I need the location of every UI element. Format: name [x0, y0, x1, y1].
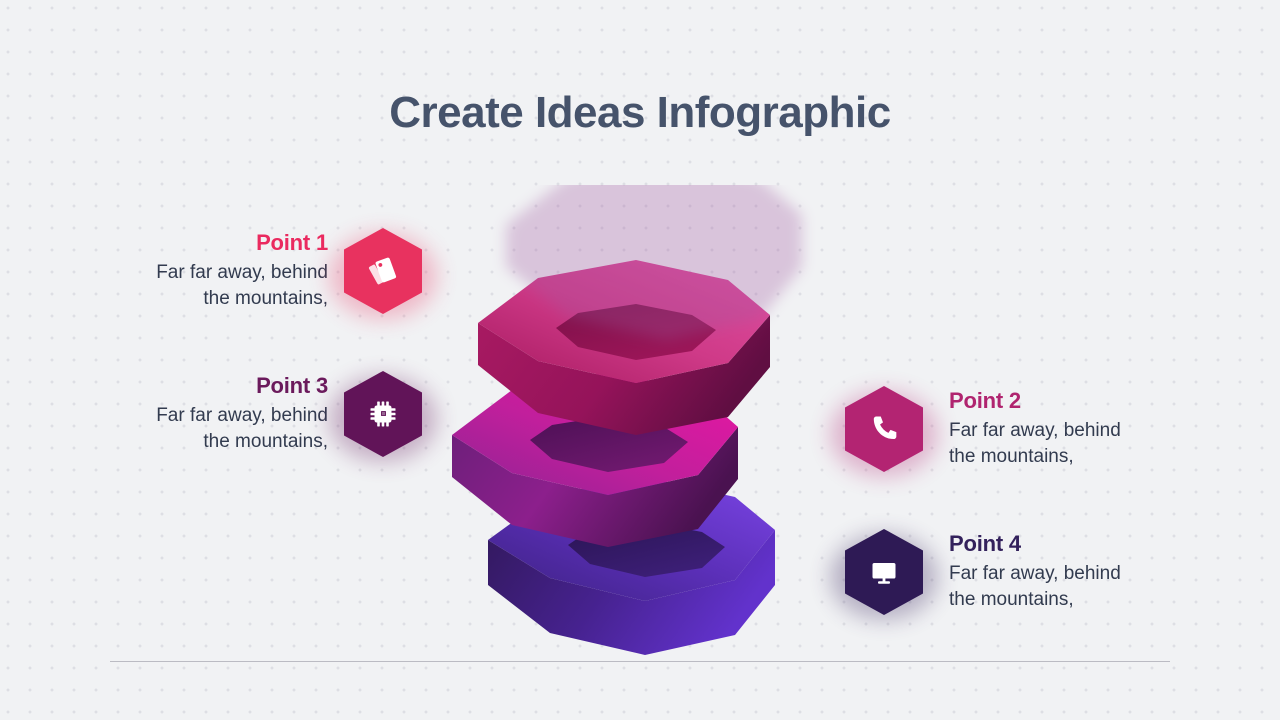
point-3-text: Point 3 Far far away, behind the mountai… — [110, 373, 328, 455]
point-4-badge[interactable] — [845, 529, 923, 615]
bottom-divider — [110, 661, 1170, 662]
point-2-heading: Point 2 — [949, 388, 1169, 414]
point-2-body: Far far away, behind the mountains, — [949, 418, 1169, 470]
point-4-heading: Point 4 — [949, 531, 1169, 557]
point-3-heading: Point 3 — [110, 373, 328, 399]
slide-canvas: Create Ideas Infographic — [0, 0, 1280, 720]
point-block-2[interactable]: Point 2 Far far away, behind the mountai… — [845, 386, 1169, 472]
point-2-text: Point 2 Far far away, behind the mountai… — [949, 388, 1169, 470]
monitor-icon — [845, 529, 923, 615]
point-1-heading: Point 1 — [110, 230, 328, 256]
point-1-text: Point 1 Far far away, behind the mountai… — [110, 230, 328, 312]
point-3-badge[interactable] — [344, 371, 422, 457]
cards-icon — [344, 228, 422, 314]
point-4-body: Far far away, behind the mountains, — [949, 561, 1169, 613]
cpu-icon — [344, 371, 422, 457]
point-block-3[interactable]: Point 3 Far far away, behind the mountai… — [110, 371, 422, 457]
page-title: Create Ideas Infographic — [0, 88, 1280, 138]
point-block-1[interactable]: Point 1 Far far away, behind the mountai… — [110, 228, 422, 314]
point-3-body: Far far away, behind the mountains, — [110, 403, 328, 455]
point-1-body: Far far away, behind the mountains, — [110, 260, 328, 312]
point-4-text: Point 4 Far far away, behind the mountai… — [949, 531, 1169, 613]
stacked-rings-graphic — [440, 185, 840, 665]
point-2-badge[interactable] — [845, 386, 923, 472]
point-block-4[interactable]: Point 4 Far far away, behind the mountai… — [845, 529, 1169, 615]
phone-icon — [845, 386, 923, 472]
point-1-badge[interactable] — [344, 228, 422, 314]
